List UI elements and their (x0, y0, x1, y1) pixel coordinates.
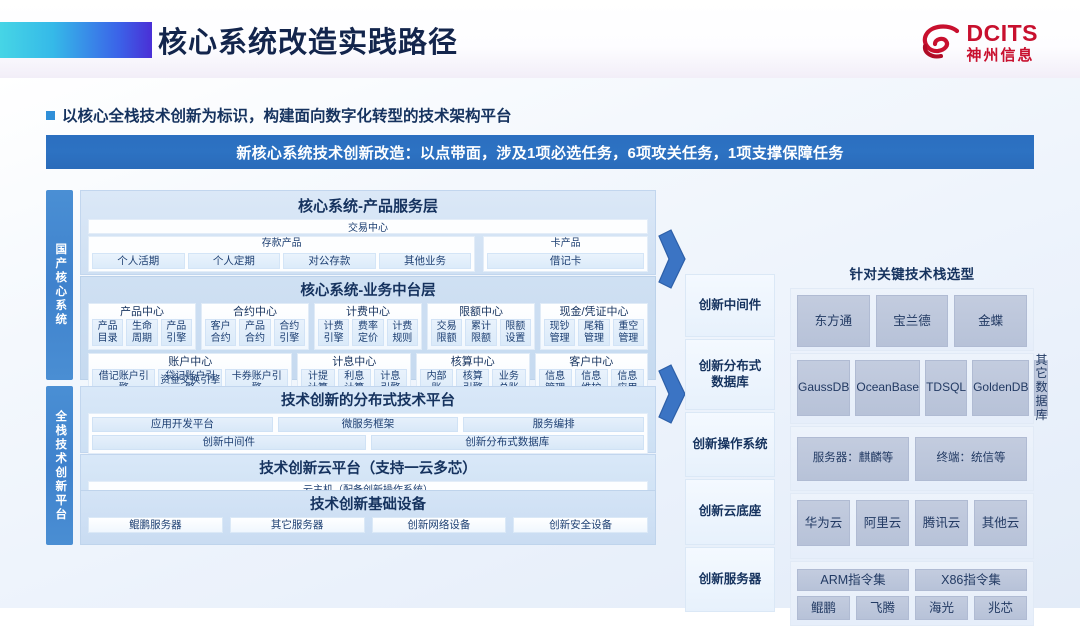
page-header: 核心系统改造实践路径 DCITS 神州信息 (0, 0, 1080, 78)
product-item[interactable]: 个人活期 (92, 253, 185, 269)
business-center-row-1: 产品中心 产品目录 生命周期 产品引擎 合约中心 客户合约 产品合约 合约引擎 (88, 303, 648, 350)
center-name: 计息中心 (301, 355, 407, 369)
chip-vendor[interactable]: 兆芯 (974, 596, 1027, 620)
logo-chinese-text: 神州信息 (967, 48, 1039, 63)
tech-platform-row-2: 创新中间件 创新分布式数据库 (92, 435, 644, 450)
cloud-platform-title: 技术创新云平台（支持一云多芯） (88, 457, 648, 478)
tech-platform-item[interactable]: 微服务框架 (278, 417, 459, 432)
innovation-target-os[interactable]: 创新操作系统 (685, 412, 775, 477)
side-label-fullstack-platform: 全栈技术创新平台 (46, 386, 73, 545)
center-sub-item[interactable]: 产品合约 (239, 319, 270, 346)
os-vendor-group: 服务器：麒麟等 终端：统信等 (790, 426, 1034, 491)
tech-stack-selection-panel: 针对关键技术栈选型 东方通 宝兰德 金蝶 GaussDB OceanBase T… (790, 263, 1034, 628)
center-name: 账户中心 (92, 355, 288, 369)
instruction-set-names-row: ARM指令集 X86指令集 (797, 569, 1027, 591)
center-sub-item[interactable]: 客户合约 (205, 319, 236, 346)
database-vendor[interactable]: GaussDB (797, 360, 850, 416)
database-vendor[interactable]: 其它数据库 (1034, 360, 1048, 416)
database-vendor-group: GaussDB OceanBase TDSQL GoldenDB 其它数据库 (790, 353, 1034, 424)
center-card[interactable]: 计费中心 计费引擎 费率定价 计费规则 (314, 303, 422, 350)
header-accent-bar (0, 22, 152, 58)
distributed-tech-platform: 技术创新的分布式技术平台 应用开发平台 微服务框架 服务编排 创新中间件 创新分… (80, 386, 656, 453)
innovation-target-server[interactable]: 创新服务器 (685, 547, 775, 612)
os-vendor[interactable]: 终端：统信等 (915, 437, 1027, 481)
innovation-target-middleware[interactable]: 创新中间件 (685, 274, 775, 337)
database-vendor[interactable]: TDSQL (925, 360, 967, 416)
dcits-swirl-icon (921, 22, 961, 62)
side-label-core-system: 国产核心系统 (46, 190, 73, 380)
center-sub-item[interactable]: 计费引擎 (318, 319, 349, 346)
os-vendor[interactable]: 服务器：麒麟等 (797, 437, 909, 481)
center-name: 合约中心 (205, 305, 305, 319)
middleware-vendor-group: 东方通 宝兰德 金蝶 (790, 288, 1034, 351)
tech-platform-row-1: 应用开发平台 微服务框架 服务编排 (92, 417, 644, 432)
center-sub-item[interactable]: 限额设置 (500, 319, 531, 346)
slide-body: 以核心全栈技术创新为标识，构建面向数字化转型的技术架构平台 新核心系统技术创新改… (0, 78, 1080, 608)
core-product-service-layer: 核心系统-产品服务层 交易中心 存款产品 个人活期 个人定期 对公存款 其他业务… (80, 190, 656, 275)
tech-platform-title: 技术创新的分布式技术平台 (88, 389, 648, 410)
trade-center-bar: 交易中心 (88, 219, 648, 234)
center-sub-item[interactable]: 累计限额 (465, 319, 496, 346)
cloud-vendor[interactable]: 阿里云 (856, 500, 909, 546)
center-sub-item[interactable]: 尾箱管理 (578, 319, 609, 346)
architecture-diagram: 国产核心系统 全栈技术创新平台 核心系统-产品服务层 交易中心 存款产品 个人活… (46, 190, 656, 545)
cloud-vendor-group: 华为云 阿里云 腾讯云 其他云 (790, 493, 1034, 559)
business-middle-layer: 核心系统-业务中台层 产品中心 产品目录 生命周期 产品引擎 合约中心 客户合约… (80, 276, 656, 380)
product-group-deposit: 存款产品 个人活期 个人定期 对公存款 其他业务 (88, 236, 475, 272)
cloud-vendor[interactable]: 华为云 (797, 500, 850, 546)
product-group-card-name: 卡产品 (483, 236, 648, 251)
product-item[interactable]: 借记卡 (487, 253, 644, 269)
product-item[interactable]: 对公存款 (283, 253, 376, 269)
middleware-vendor[interactable]: 东方通 (797, 295, 870, 347)
flow-arrow-icon-top (657, 228, 687, 290)
infrastructure-item[interactable]: 鲲鹏服务器 (88, 517, 223, 533)
core-product-layer-title: 核心系统-产品服务层 (88, 195, 648, 216)
product-item[interactable]: 个人定期 (188, 253, 281, 269)
infrastructure-items-row: 鲲鹏服务器 其它服务器 创新网络设备 创新安全设备 (88, 517, 648, 533)
section-bullet-text: 以核心全栈技术创新为标识，构建面向数字化转型的技术架构平台 (62, 104, 512, 126)
instruction-set-name[interactable]: ARM指令集 (797, 569, 909, 591)
middleware-vendor[interactable]: 宝兰德 (876, 295, 949, 347)
infrastructure-item[interactable]: 其它服务器 (230, 517, 365, 533)
database-vendor[interactable]: GoldenDB (972, 360, 1029, 416)
tech-platform-item[interactable]: 服务编排 (463, 417, 644, 432)
center-name: 现金/凭证中心 (544, 305, 644, 319)
section-bullet: 以核心全栈技术创新为标识，构建面向数字化转型的技术架构平台 (46, 104, 512, 126)
center-sub-item[interactable]: 合约引擎 (274, 319, 305, 346)
business-middle-layer-title: 核心系统-业务中台层 (88, 279, 648, 300)
center-name: 产品中心 (92, 305, 192, 319)
product-group-card: 卡产品 借记卡 (483, 236, 648, 272)
cloud-vendor[interactable]: 腾讯云 (915, 500, 968, 546)
infrastructure-section: 技术创新基础设备 鲲鹏服务器 其它服务器 创新网络设备 创新安全设备 (80, 490, 656, 545)
center-card[interactable]: 现金/凭证中心 现钞管理 尾箱管理 重空管理 (540, 303, 648, 350)
center-name: 计费中心 (318, 305, 418, 319)
infrastructure-title: 技术创新基础设备 (88, 493, 648, 514)
infrastructure-item[interactable]: 创新网络设备 (372, 517, 507, 533)
side-label-core-system-text: 国产核心系统 (54, 243, 66, 327)
chip-vendor[interactable]: 鲲鹏 (797, 596, 850, 620)
flow-arrow-icon-bottom (657, 363, 687, 425)
instruction-set-group: ARM指令集 X86指令集 鲲鹏 飞腾 海光 兆芯 (790, 561, 1034, 626)
chip-vendor[interactable]: 海光 (915, 596, 968, 620)
instruction-set-name[interactable]: X86指令集 (915, 569, 1027, 591)
center-sub-item[interactable]: 生命周期 (126, 319, 157, 346)
logo-english-text: DCITS (967, 22, 1039, 45)
highlight-banner: 新核心系统技术创新改造：以点带面，涉及1项必选任务，6项攻关任务，1项支撑保障任… (46, 135, 1034, 169)
product-group-deposit-name: 存款产品 (88, 236, 475, 251)
highlight-banner-text: 新核心系统技术创新改造：以点带面，涉及1项必选任务，6项攻关任务，1项支撑保障任… (236, 142, 843, 163)
side-label-fullstack-platform-text: 全栈技术创新平台 (54, 410, 66, 522)
center-name: 客户中心 (539, 355, 645, 369)
cloud-vendor[interactable]: 其他云 (974, 500, 1027, 546)
innovation-target-database[interactable]: 创新分布式 数据库 (685, 339, 775, 410)
tech-platform-item[interactable]: 应用开发平台 (92, 417, 273, 432)
center-card[interactable]: 合约中心 客户合约 产品合约 合约引擎 (201, 303, 309, 350)
page-title: 核心系统改造实践路径 (158, 19, 458, 61)
database-vendor[interactable]: OceanBase (855, 360, 920, 416)
center-sub-item[interactable]: 重空管理 (613, 319, 644, 346)
center-sub-item[interactable]: 现钞管理 (544, 319, 575, 346)
infrastructure-item[interactable]: 创新安全设备 (513, 517, 648, 533)
center-sub-item[interactable]: 产品引擎 (161, 319, 192, 346)
center-sub-item[interactable]: 计费规则 (387, 319, 418, 346)
middleware-vendor[interactable]: 金蝶 (954, 295, 1027, 347)
tech-platform-item[interactable]: 创新中间件 (92, 435, 366, 450)
tech-stack-selection-title: 针对关键技术栈选型 (790, 263, 1034, 283)
chip-vendor-row: 鲲鹏 飞腾 海光 兆芯 (797, 596, 1027, 620)
center-sub-item[interactable]: 产品目录 (92, 319, 123, 346)
center-name: 核算中心 (420, 355, 526, 369)
innovation-targets-column: 创新中间件 创新分布式 数据库 创新操作系统 创新云底座 创新服务器 (685, 274, 775, 614)
center-sub-item[interactable]: 费率定价 (352, 319, 383, 346)
tech-platform-item[interactable]: 创新分布式数据库 (371, 435, 645, 450)
dcits-logo: DCITS 神州信息 (921, 20, 1039, 64)
center-card[interactable]: 限额中心 交易限额 累计限额 限额设置 (427, 303, 535, 350)
center-sub-item[interactable]: 交易限额 (431, 319, 462, 346)
product-item[interactable]: 其他业务 (379, 253, 472, 269)
center-name: 限额中心 (431, 305, 531, 319)
chip-vendor[interactable]: 飞腾 (856, 596, 909, 620)
center-card[interactable]: 产品中心 产品目录 生命周期 产品引擎 (88, 303, 196, 350)
bullet-square-icon (46, 111, 55, 120)
innovation-target-cloud[interactable]: 创新云底座 (685, 479, 775, 545)
account-center-overlay-label: 资金交换引擎 (160, 371, 220, 386)
